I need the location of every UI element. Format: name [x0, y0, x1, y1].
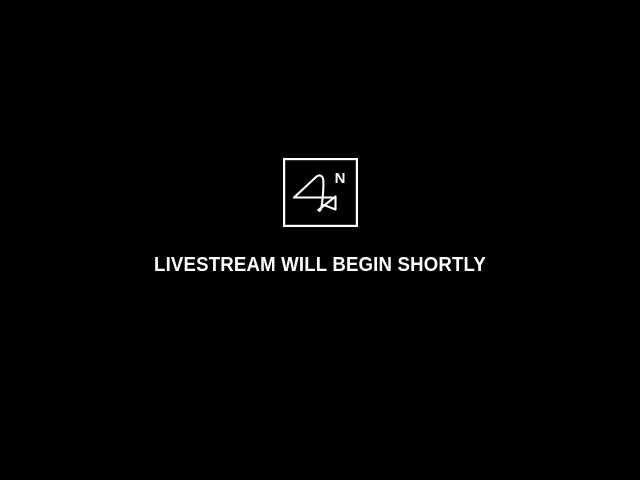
logo-svg: N	[283, 158, 358, 227]
standby-message: LIVESTREAM WILL BEGIN SHORTLY	[22, 254, 617, 276]
logo-square-frame	[284, 159, 357, 226]
action-potential-waveform-icon	[294, 176, 336, 211]
logo-superscript-n: N	[335, 170, 346, 187]
livestream-standby-screen: N LIVESTREAM WILL BEGIN SHORTLY	[0, 0, 640, 480]
neuralink-waveform-logo: N	[283, 158, 358, 227]
